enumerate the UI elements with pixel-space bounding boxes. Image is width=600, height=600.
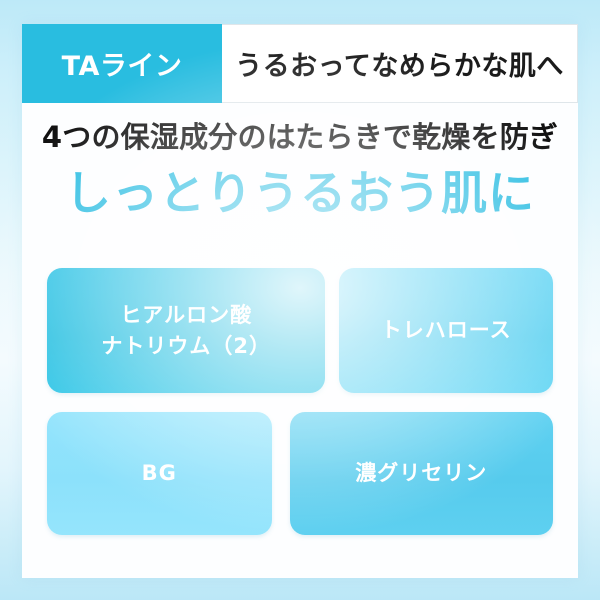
ingredient-card-trehalose: トレハロース — [339, 268, 553, 393]
headline-secondary: しっとりうるおう肌に — [22, 164, 578, 224]
promo-banner: TAライン うるおってなめらかな肌へ 4つの保湿成分のはたらきで乾燥を防ぎ しっ… — [0, 0, 600, 600]
content-panel: TAライン うるおってなめらかな肌へ 4つの保湿成分のはたらきで乾燥を防ぎ しっ… — [22, 24, 578, 578]
ingredient-card-grid: ヒアルロン酸 ナトリウム（2） トレハロース BG 濃グリセリン — [22, 268, 578, 535]
ingredient-card-concentrated-glycerin: 濃グリセリン — [290, 412, 553, 535]
ingredient-card-row-1: ヒアルロン酸 ナトリウム（2） トレハロース — [22, 268, 578, 393]
headline-block: 4つの保湿成分のはたらきで乾燥を防ぎ しっとりうるおう肌に — [22, 119, 578, 224]
ingredient-card-label: BG — [142, 458, 177, 488]
tagline-text: うるおってなめらかな肌へ — [235, 44, 564, 83]
ingredient-card-bg: BG — [47, 412, 272, 535]
ingredient-card-label: トレハロース — [381, 315, 512, 345]
ingredient-card-label: ヒアルロン酸 ナトリウム（2） — [101, 300, 271, 361]
ingredient-card-label: 濃グリセリン — [355, 458, 487, 488]
header-bar: TAライン うるおってなめらかな肌へ — [22, 24, 578, 103]
tagline-box: うるおってなめらかな肌へ — [222, 24, 578, 103]
product-line-badge: TAライン — [22, 24, 222, 103]
ingredient-card-row-2: BG 濃グリセリン — [22, 412, 578, 535]
ingredient-card-hyaluronic-acid: ヒアルロン酸 ナトリウム（2） — [47, 268, 325, 393]
product-line-badge-label: TAライン — [62, 44, 183, 83]
headline-primary: 4つの保湿成分のはたらきで乾燥を防ぎ — [22, 119, 578, 155]
